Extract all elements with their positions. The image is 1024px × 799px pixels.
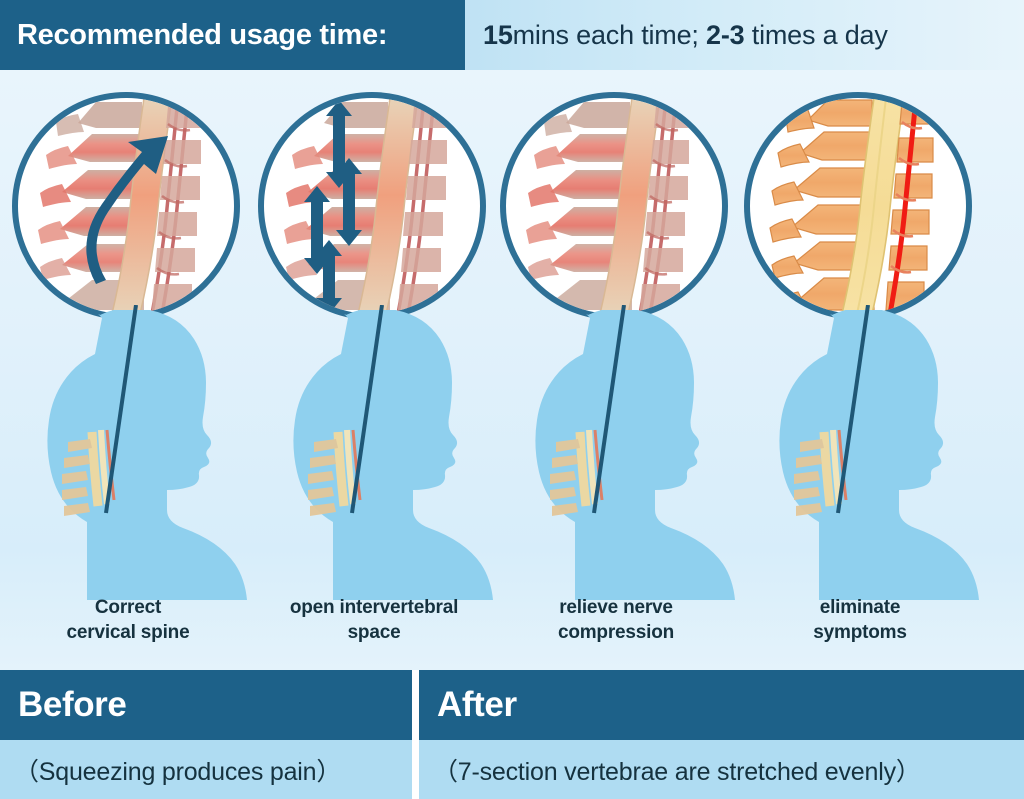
zoom-circle-3 — [500, 92, 728, 320]
zoom-circle-1 — [12, 92, 240, 320]
header-frequency-value: 2-3 — [706, 20, 744, 50]
illustration-area: Correctcervical spine — [0, 70, 1024, 670]
before-column: Before （Squeezing produces pain） — [0, 670, 412, 799]
connector-line-4 — [830, 305, 890, 520]
header-duration-unit: mins each time; — [513, 20, 699, 50]
step-label-1: Correctcervical spine — [0, 595, 256, 646]
zoom-circle-2 — [258, 92, 486, 320]
step-panel-2: open intervertebralspace — [246, 70, 502, 670]
after-title-bar: After — [419, 670, 1024, 740]
header-value-block: 15mins each time; 2-3 times a day — [465, 0, 1024, 70]
before-title: Before — [0, 685, 126, 725]
after-subtitle: （7-section vertebrae are stretched evenl… — [419, 752, 921, 788]
after-title: After — [419, 685, 517, 725]
header-label: Recommended usage time: — [17, 19, 387, 52]
connector-line-2 — [344, 305, 404, 520]
spine-illustration-2 — [264, 98, 480, 314]
connector-line-1 — [98, 305, 158, 520]
footer-divider — [412, 670, 419, 799]
connector-line-3 — [586, 305, 646, 520]
step-panel-1: Correctcervical spine — [0, 70, 256, 670]
header-frequency-unit: times a day — [752, 20, 888, 50]
header-spacer-2 — [744, 20, 751, 50]
spine-illustration-4 — [750, 98, 966, 314]
before-after-footer: Before （Squeezing produces pain） After （… — [0, 670, 1024, 799]
before-title-bar: Before — [0, 670, 412, 740]
header-spacer-1 — [699, 20, 706, 50]
header-label-block: Recommended usage time: — [0, 0, 465, 70]
step-panel-3: relieve nervecompression — [488, 70, 744, 670]
before-subtitle: （Squeezing produces pain） — [0, 752, 341, 788]
header-bar: Recommended usage time: 15mins each time… — [0, 0, 1024, 70]
step-label-3: relieve nervecompression — [488, 595, 744, 646]
before-subtitle-bar: （Squeezing produces pain） — [0, 740, 412, 799]
after-subtitle-bar: （7-section vertebrae are stretched evenl… — [419, 740, 1024, 799]
header-usage-value: 15mins each time; 2-3 times a day — [483, 20, 888, 51]
step-label-4: eliminatesymptoms — [732, 595, 988, 646]
step-panel-4: eliminatesymptoms — [732, 70, 988, 670]
step-label-2: open intervertebralspace — [246, 595, 502, 646]
after-column: After （7-section vertebrae are stretched… — [419, 670, 1024, 799]
spine-illustration-1 — [18, 98, 234, 314]
zoom-circle-4 — [744, 92, 972, 320]
spine-illustration-3 — [506, 98, 722, 314]
header-duration-value: 15 — [483, 20, 513, 50]
